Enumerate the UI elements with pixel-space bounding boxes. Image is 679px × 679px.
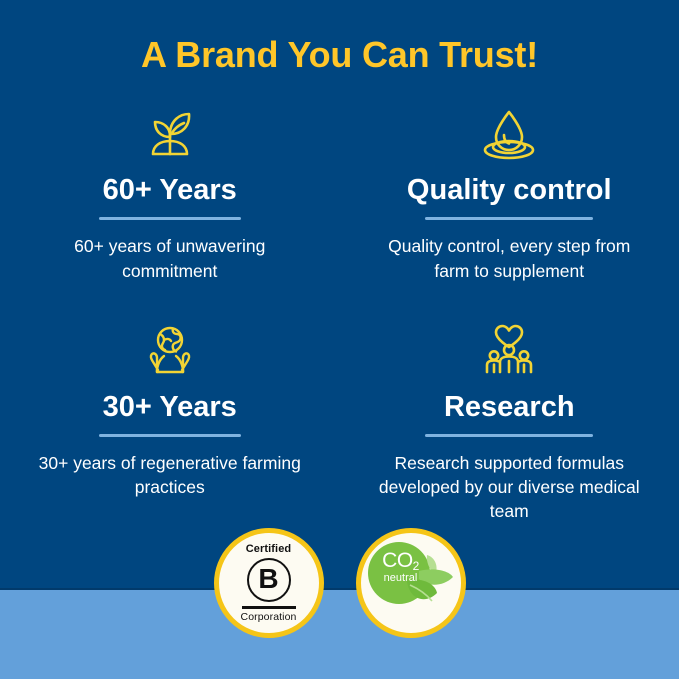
co2-subscript: 2 <box>413 559 419 573</box>
feature-heading: Research <box>444 392 575 422</box>
certification-badges: Certified B Corporation <box>0 528 679 638</box>
feature-body: 60+ years of unwavering commitment <box>36 234 304 282</box>
feature-divider <box>99 217 241 220</box>
co2-neutral-text: neutral <box>370 573 432 584</box>
feature-divider <box>425 434 593 437</box>
feature-body: Research supported formulas developed by… <box>375 451 643 523</box>
feature-card-research: Research Research supported formulas dev… <box>340 320 679 524</box>
feature-divider <box>99 434 241 437</box>
seedling-icon <box>140 103 200 165</box>
feature-divider <box>425 217 593 220</box>
co2-main-text: CO2 <box>370 550 432 571</box>
feature-heading: 60+ Years <box>103 175 237 205</box>
water-droplet-icon <box>479 103 539 165</box>
feature-heading: 30+ Years <box>103 392 237 422</box>
certified-b-corporation-badge: Certified B Corporation <box>214 528 324 638</box>
bcorp-bottom-text: Corporation <box>241 612 297 623</box>
features-row-2: 30+ Years 30+ years of regenerative farm… <box>0 320 679 524</box>
infographic-page: A Brand You Can Trust! 60+ Years 60+ yea… <box>0 0 679 679</box>
bcorp-logo: Certified B Corporation <box>241 544 297 622</box>
co2-label: CO2 neutral <box>370 550 432 584</box>
feature-card-30-years: 30+ Years 30+ years of regenerative farm… <box>0 320 340 524</box>
bcorp-letter: B <box>258 565 278 593</box>
feature-card-quality-control: Quality control Quality control, every s… <box>340 103 679 283</box>
features-row-1: 60+ Years 60+ years of unwavering commit… <box>0 103 679 283</box>
bcorp-b-mark: B <box>247 558 291 602</box>
feature-body: 30+ years of regenerative farming practi… <box>36 451 304 499</box>
bcorp-rule <box>242 606 296 609</box>
co2-neutral-badge: CO2 neutral <box>356 528 466 638</box>
bcorp-top-text: Certified <box>246 544 292 555</box>
people-heart-icon <box>478 320 540 382</box>
hands-holding-globe-icon <box>140 320 200 382</box>
feature-card-60-years: 60+ Years 60+ years of unwavering commit… <box>0 103 340 283</box>
page-title: A Brand You Can Trust! <box>0 34 679 76</box>
co2-logo: CO2 neutral <box>361 533 461 633</box>
feature-body: Quality control, every step from farm to… <box>375 234 643 282</box>
features-grid: 60+ Years 60+ years of unwavering commit… <box>0 103 679 524</box>
feature-heading: Quality control <box>407 175 612 205</box>
